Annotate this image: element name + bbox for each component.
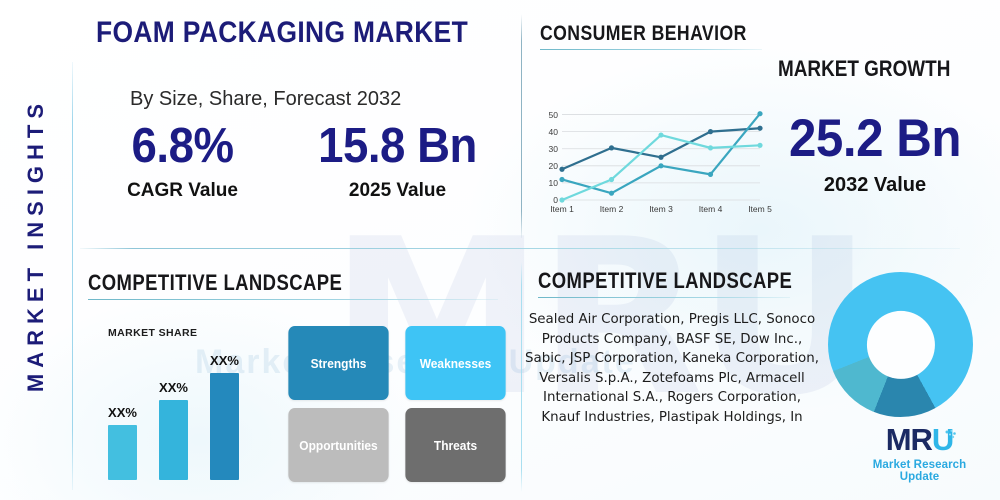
market-share-bar-chart: XX%XX%XX% <box>100 340 270 480</box>
y-axis-tick-label: 10 <box>549 178 558 188</box>
y-axis-tick-label: 50 <box>549 110 558 120</box>
market-share-donut-chart <box>828 272 973 417</box>
data-point <box>757 111 762 116</box>
x-axis-tick-label: Item 1 <box>550 204 574 214</box>
kpi-cagr-label: CAGR Value <box>90 180 275 202</box>
line-series-2 <box>562 114 760 193</box>
kpi-2032: 25.2 Bn 2032 Value <box>760 112 990 197</box>
bar <box>210 373 239 480</box>
consumer-behavior-title: CONSUMER BEHAVIOR <box>540 22 747 46</box>
swot-grid: StrengthsWeaknessesOpportunitiesThreats <box>284 326 510 482</box>
logo-mark-mr: MR <box>886 422 932 457</box>
rail-label: MARKET INSIGHTS <box>23 45 49 445</box>
competitive-landscape-left-underline <box>88 299 498 300</box>
swot-box-threats[interactable]: Threats <box>405 408 505 482</box>
bar <box>108 425 137 480</box>
consumer-behavior-line-chart: 01020304050Item 1Item 2Item 3Item 4Item … <box>536 100 766 220</box>
data-point <box>708 172 713 177</box>
competitive-landscape-left-title: COMPETITIVE LANDSCAPE <box>88 270 342 296</box>
key-players-text: Sealed Air Corporation, Pregis LLC, Sono… <box>524 310 820 428</box>
logo-droplet-icon <box>943 419 957 435</box>
kpi-2025-label: 2025 Value <box>290 180 505 202</box>
x-axis-tick-label: Item 2 <box>600 204 624 214</box>
kpi-2032-label: 2032 Value <box>760 174 990 197</box>
kpi-cagr: 6.8% CAGR Value <box>90 122 275 202</box>
infographic-root: MRU Market Research Update MARKET INSIGH… <box>0 0 1000 500</box>
data-point <box>658 155 663 160</box>
swot-box-weaknesses[interactable]: Weaknesses <box>405 326 505 400</box>
kpi-2025-value: 15.8 Bn <box>298 122 498 171</box>
y-axis-tick-label: 30 <box>549 144 558 154</box>
data-point <box>559 197 564 202</box>
donut-hole <box>866 310 934 378</box>
x-axis-tick-label: Item 3 <box>649 204 673 214</box>
vertical-divider-top <box>521 14 522 238</box>
bar-value-label: XX% <box>108 405 137 420</box>
data-point <box>559 167 564 172</box>
page-subtitle: By Size, Share, Forecast 2032 <box>130 88 401 111</box>
left-rail: MARKET INSIGHTS <box>0 0 62 500</box>
data-point <box>757 143 762 148</box>
kpi-2032-value: 25.2 Bn <box>768 112 982 165</box>
logo-subtitle: Market Research Update <box>852 459 987 483</box>
data-point <box>658 132 663 137</box>
logo-mark: MRU <box>886 424 954 455</box>
bar-value-label: XX% <box>210 353 239 368</box>
data-point <box>708 145 713 150</box>
competitive-landscape-right-underline <box>538 297 790 298</box>
data-point <box>658 163 663 168</box>
consumer-behavior-underline <box>540 49 762 50</box>
kpi-cagr-value: 6.8% <box>96 122 268 171</box>
rail-accent-line <box>72 62 73 490</box>
mru-logo: MRU Market Research Update <box>852 424 987 483</box>
data-point <box>609 145 614 150</box>
bar-value-label: XX% <box>159 380 188 395</box>
y-axis-tick-label: 20 <box>549 161 558 171</box>
line-chart-svg <box>536 100 766 220</box>
swot-box-strengths[interactable]: Strengths <box>288 326 388 400</box>
data-point <box>609 191 614 196</box>
page-title: FOAM PACKAGING MARKET <box>96 16 468 50</box>
data-point <box>708 129 713 134</box>
market-growth-title: MARKET GROWTH <box>778 56 950 82</box>
market-share-label: MARKET SHARE <box>108 327 197 339</box>
swot-box-opportunities[interactable]: Opportunities <box>288 408 388 482</box>
vertical-divider-bottom <box>521 262 522 492</box>
competitive-landscape-right-title: COMPETITIVE LANDSCAPE <box>538 268 792 294</box>
kpi-2025: 15.8 Bn 2025 Value <box>290 122 505 202</box>
x-axis-tick-label: Item 4 <box>699 204 723 214</box>
x-axis-tick-label: Item 5 <box>748 204 772 214</box>
data-point <box>757 126 762 131</box>
horizontal-divider <box>80 248 960 249</box>
y-axis-tick-label: 40 <box>549 127 558 137</box>
data-point <box>609 177 614 182</box>
bar <box>159 400 188 480</box>
data-point <box>559 177 564 182</box>
